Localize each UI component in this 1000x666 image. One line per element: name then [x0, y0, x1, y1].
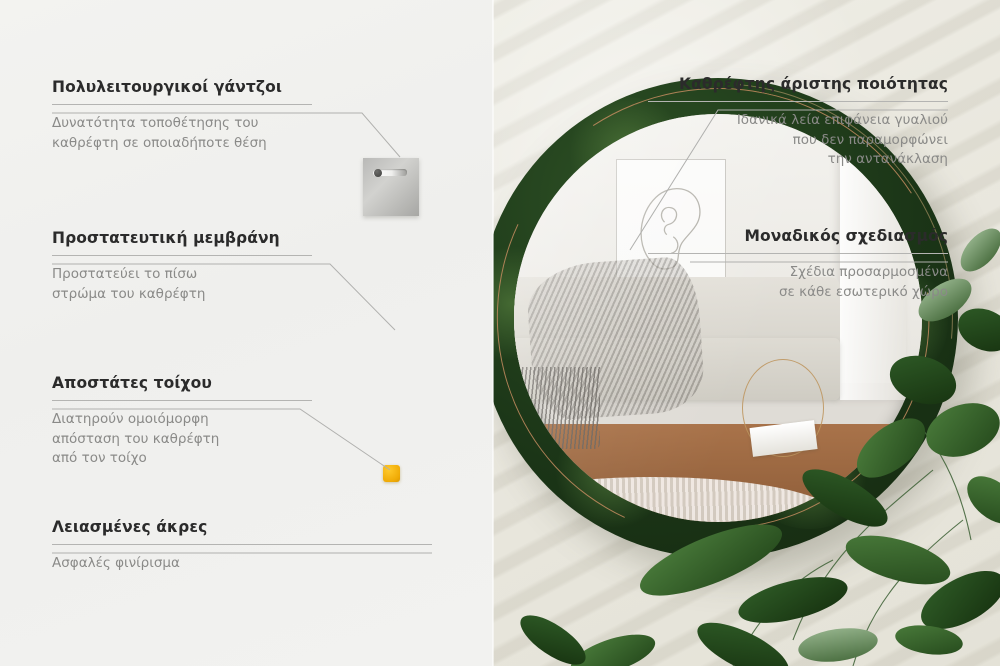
pane-divider [492, 0, 494, 666]
callout-rule [648, 253, 948, 254]
hanging-hook-plate [363, 158, 419, 216]
callout-unique-design: Μοναδικός σχεδιασμός Σχέδια προσαρμοσμέν… [648, 227, 948, 302]
callout-title: Προστατευτική μεμβράνη [52, 229, 312, 247]
callout-multifunctional-hooks: Πολυλειτουργικοί γάντζοι Δυνατότητα τοπο… [52, 78, 312, 153]
callout-description: Ιδανικά λεία επιφάνεια γυαλιού που δεν π… [648, 111, 948, 170]
callout-description: Ασφαλές φινίρισμα [52, 554, 432, 574]
callout-rule [52, 104, 312, 105]
hook-screw [374, 169, 382, 177]
callout-title: Καθρέφτης άριστης ποιότητας [648, 75, 948, 93]
callout-protective-membrane: Προστατευτική μεμβράνη Προστατεύει το πί… [52, 229, 312, 304]
callout-description: Σχέδια προσαρμοσμένα σε κάθε εσωτερικό χ… [648, 263, 948, 302]
callout-smoothed-edges: Λειασμένες άκρες Ασφαλές φινίρισμα [52, 518, 432, 574]
callout-description: Προστατεύει το πίσω στρώμα του καθρέφτη [52, 265, 312, 304]
callout-title: Αποστάτες τοίχου [52, 374, 312, 392]
callout-rule [52, 255, 312, 256]
callout-rule [52, 400, 312, 401]
callout-top-quality-mirror: Καθρέφτης άριστης ποιότητας Ιδανικά λεία… [648, 75, 948, 170]
callout-title: Πολυλειτουργικοί γάντζοι [52, 78, 312, 96]
infographic-canvas: Πολυλειτουργικοί γάντζοι Δυνατότητα τοπο… [0, 0, 1000, 666]
callout-title: Λειασμένες άκρες [52, 518, 432, 536]
callout-rule [648, 101, 948, 102]
callout-description: Διατηρούν ομοιόμορφη απόσταση του καθρέφ… [52, 410, 312, 469]
callout-rule [52, 544, 432, 545]
callout-title: Μοναδικός σχεδιασμός [648, 227, 948, 245]
wall-spacer [383, 465, 400, 482]
callout-wall-spacers: Αποστάτες τοίχου Διατηρούν ομοιόμορφη απ… [52, 374, 312, 469]
callout-description: Δυνατότητα τοποθέτησης του καθρέφτη σε ο… [52, 114, 312, 153]
